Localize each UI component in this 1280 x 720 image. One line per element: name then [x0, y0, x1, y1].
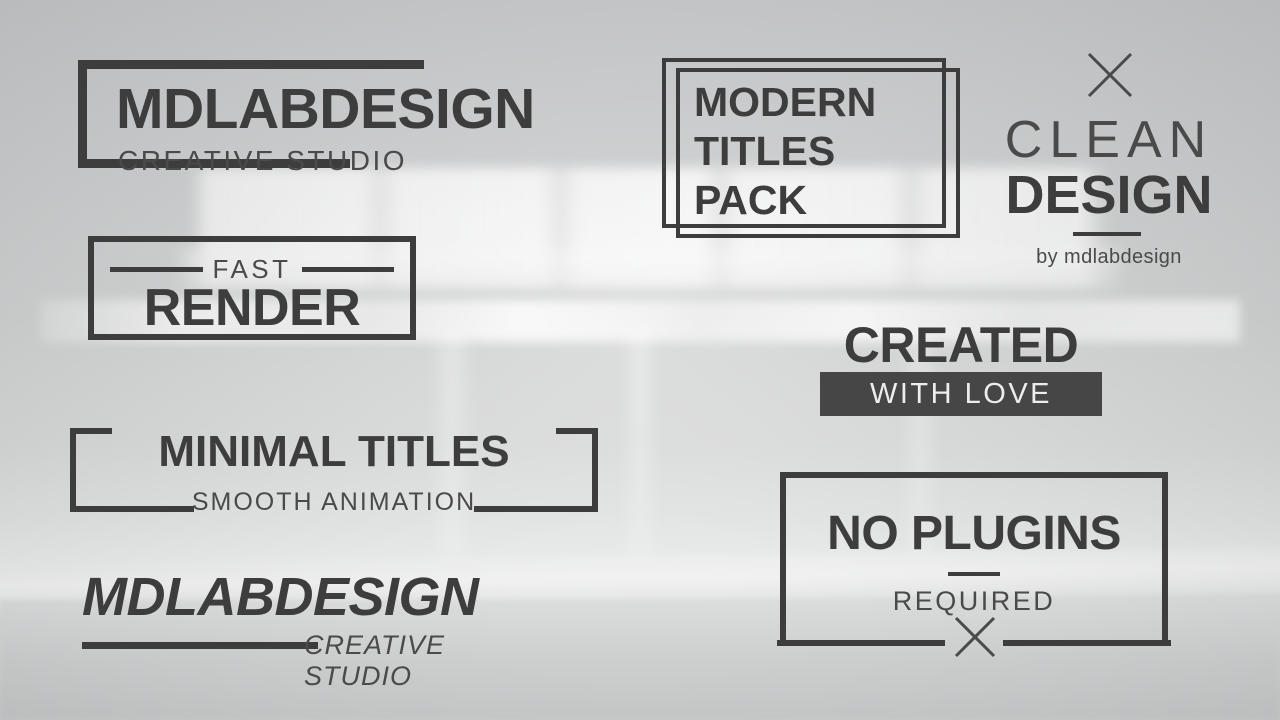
rule-right — [302, 267, 395, 272]
render-headline: RENDER — [88, 282, 416, 334]
x-mark-icon — [1085, 50, 1135, 105]
title-card-minimal-titles: MINIMAL TITLES SMOOTH ANIMATION — [70, 428, 598, 512]
no-plugins-bottom-right — [1003, 640, 1171, 646]
title-card-fast-render: FAST RENDER — [88, 236, 416, 340]
no-plugins-headline: NO PLUGINS — [780, 510, 1168, 558]
mdlabdesign-italic-tagline: CREATIVE STUDIO — [304, 630, 542, 692]
clean-line: CLEAN — [985, 110, 1233, 170]
title-card-modern-titles-pack: MODERN TITLES PACK — [662, 58, 960, 238]
title-card-no-plugins: NO PLUGINS REQUIRED — [780, 472, 1168, 640]
with-love-bar: WITH LOVE — [820, 372, 1102, 416]
modern-line-1: MODERN — [694, 82, 876, 123]
no-plugins-divider — [948, 572, 1000, 576]
bracket-top-extension — [340, 60, 424, 69]
no-plugins-bottom-left — [777, 640, 945, 646]
minimal-titles-subline: SMOOTH ANIMATION — [70, 488, 598, 517]
mdlabdesign-italic-title: MDLABDESIGN — [82, 570, 479, 624]
clean-design-credit: by mdlabdesign — [985, 246, 1233, 269]
minimal-titles-headline: MINIMAL TITLES — [70, 430, 598, 474]
no-plugins-subline: REQUIRED — [780, 586, 1168, 617]
x-mark-icon — [952, 614, 998, 665]
modern-titles-lines: MODERN TITLES PACK — [694, 82, 876, 229]
modern-line-2: TITLES — [694, 131, 876, 172]
mdlabdesign-title: MDLABDESIGN — [116, 81, 535, 138]
with-love-text: WITH LOVE — [870, 378, 1052, 411]
clean-design-divider — [1073, 232, 1141, 236]
title-pack-showcase: MDLABDESIGN CREATIVE STUDIO FAST RENDER … — [0, 0, 1280, 720]
modern-line-3: PACK — [694, 180, 876, 221]
italic-rule — [82, 642, 318, 649]
design-line: DESIGN — [985, 168, 1233, 222]
rule-left — [110, 267, 203, 272]
created-headline: CREATED — [820, 320, 1102, 370]
mdlabdesign-tagline: CREATIVE STUDIO — [118, 147, 407, 175]
